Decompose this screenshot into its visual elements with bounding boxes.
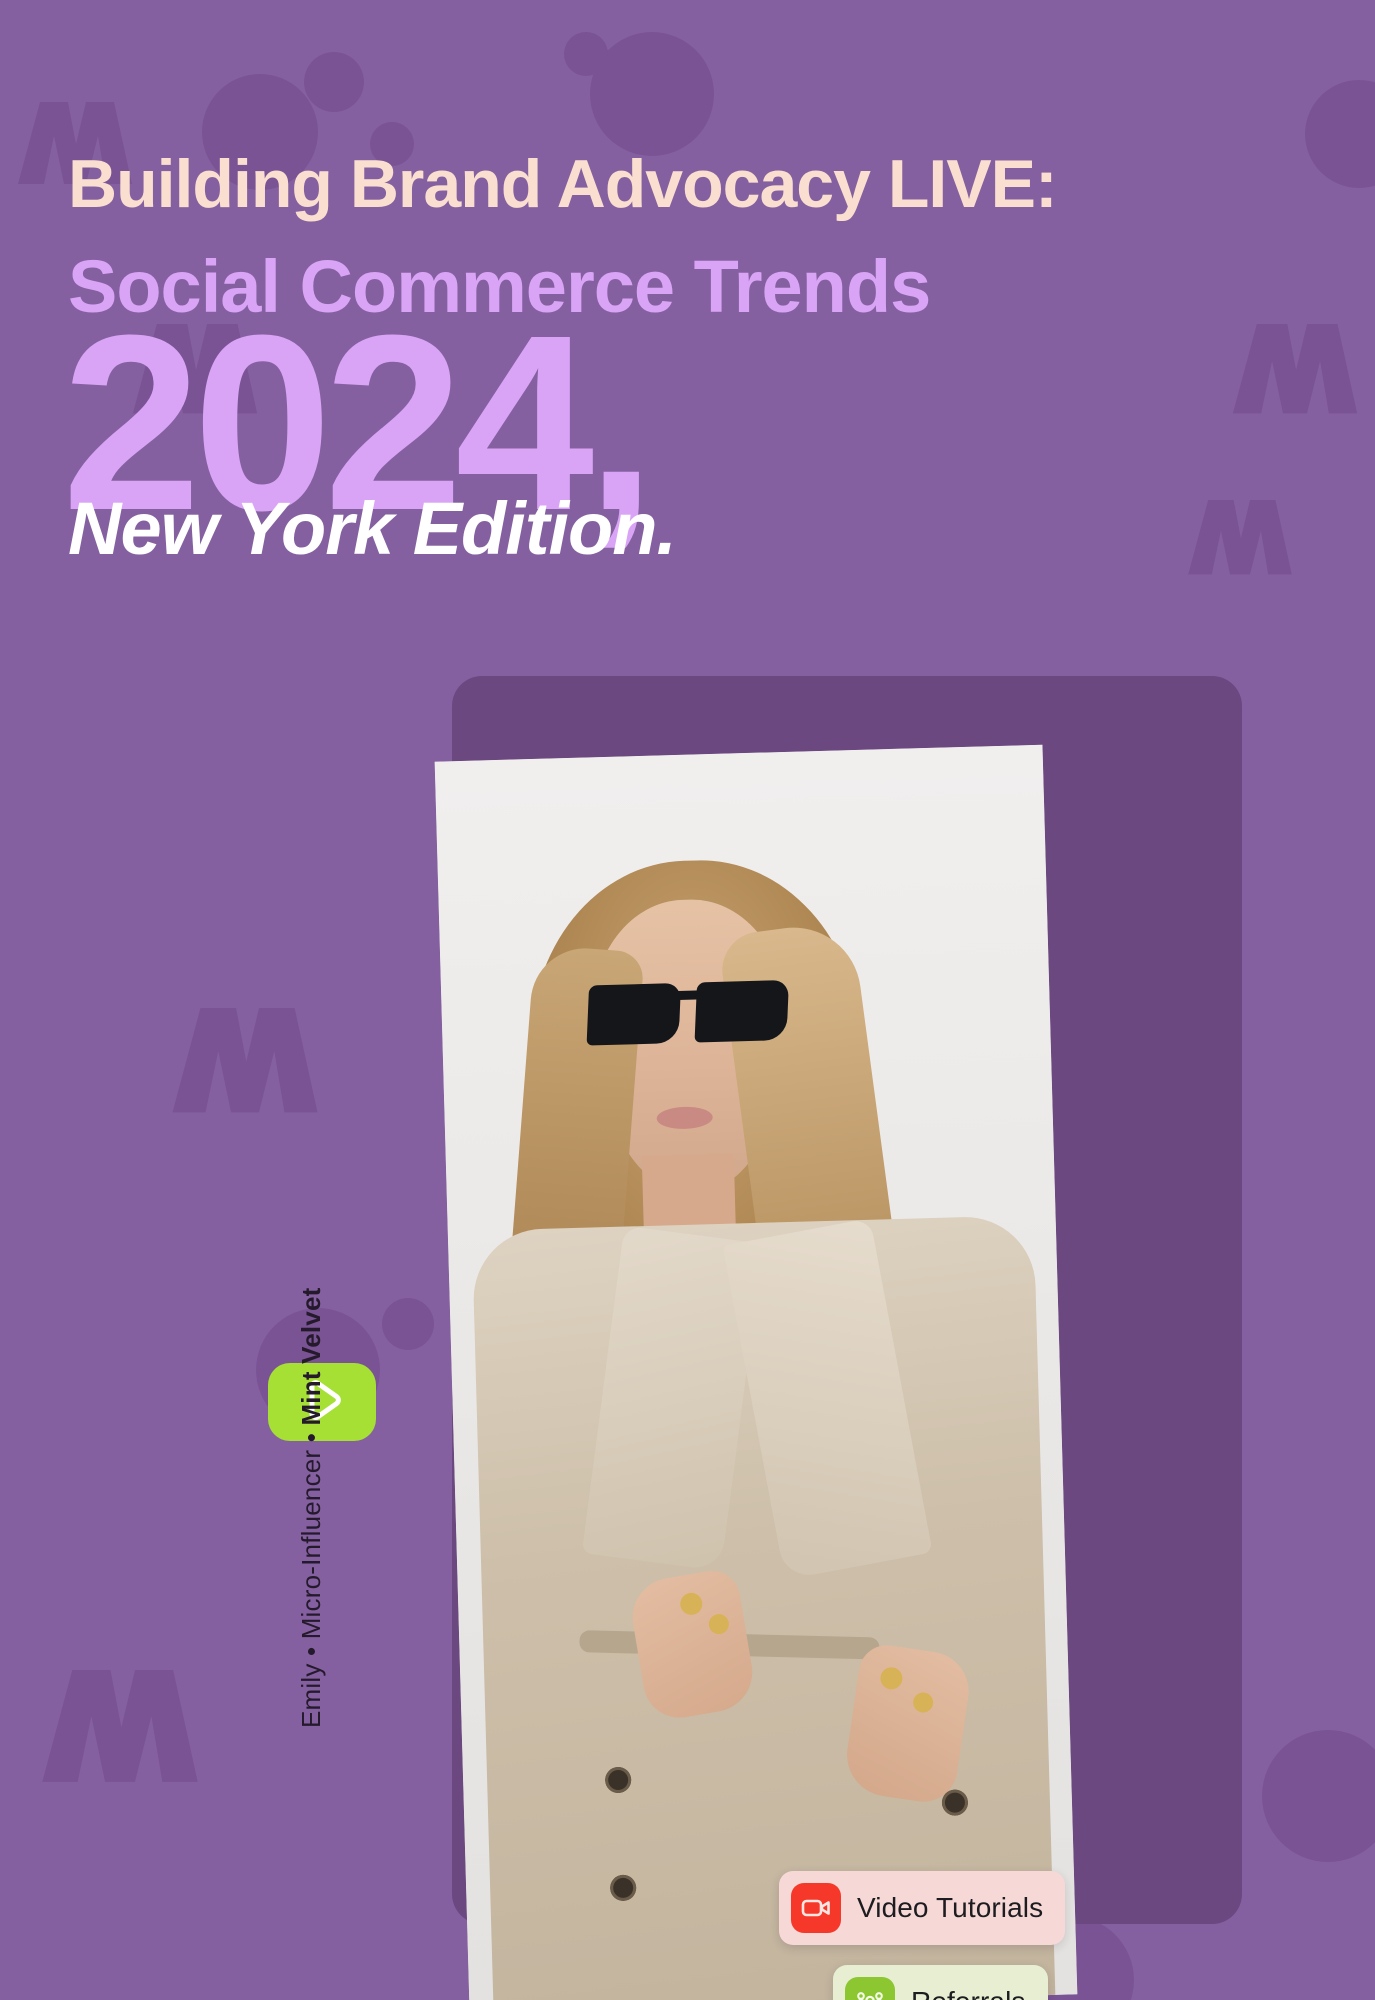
people-group-icon <box>845 1977 895 2000</box>
media-composition: Emily • Micro-Influencer • Mint Velvet V… <box>0 660 1375 2000</box>
credit-brand: Mint Velvet <box>296 1288 326 1426</box>
badge-label: Video Tutorials <box>857 1892 1043 1924</box>
photo-lens-right <box>695 980 789 1043</box>
badge-referrals[interactable]: Referrals <box>833 1965 1048 2000</box>
credit-vertical-text: Emily • Micro-Influencer • Mint Velvet <box>296 1288 327 1728</box>
photo-lens-left <box>587 983 681 1046</box>
badge-video-tutorials[interactable]: Video Tutorials <box>779 1871 1065 1945</box>
headline-year-group: 2024, New York Edition. <box>68 320 1307 590</box>
headline-line-1: Building Brand Advocacy LIVE: <box>68 150 1307 218</box>
headline-block: Building Brand Advocacy LIVE: Social Com… <box>0 150 1375 590</box>
influencer-photo <box>435 745 1078 2000</box>
poster-canvas: Building Brand Advocacy LIVE: Social Com… <box>0 0 1375 2000</box>
photo-sunglasses <box>587 980 795 1052</box>
video-camera-icon <box>791 1883 841 1933</box>
badge-label: Referrals <box>911 1986 1026 2000</box>
credit-prefix: Emily • Micro-Influencer • <box>296 1426 326 1728</box>
headline-edition: New York Edition. <box>68 492 676 566</box>
photo-hand-right <box>841 1642 974 1807</box>
